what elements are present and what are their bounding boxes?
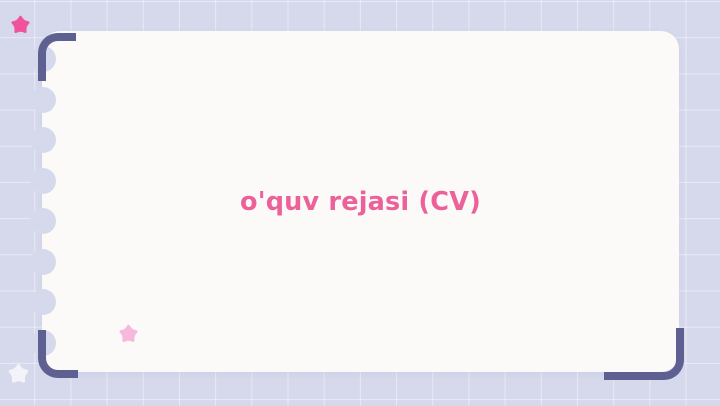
title-container: o'quv rejasi (CV)	[42, 31, 679, 372]
slide-canvas: o'quv rejasi (CV)	[0, 0, 720, 406]
slide-title: o'quv rejasi (CV)	[240, 187, 481, 217]
star-top-left-icon	[9, 13, 32, 36]
star-bottom-left-icon	[6, 361, 31, 386]
